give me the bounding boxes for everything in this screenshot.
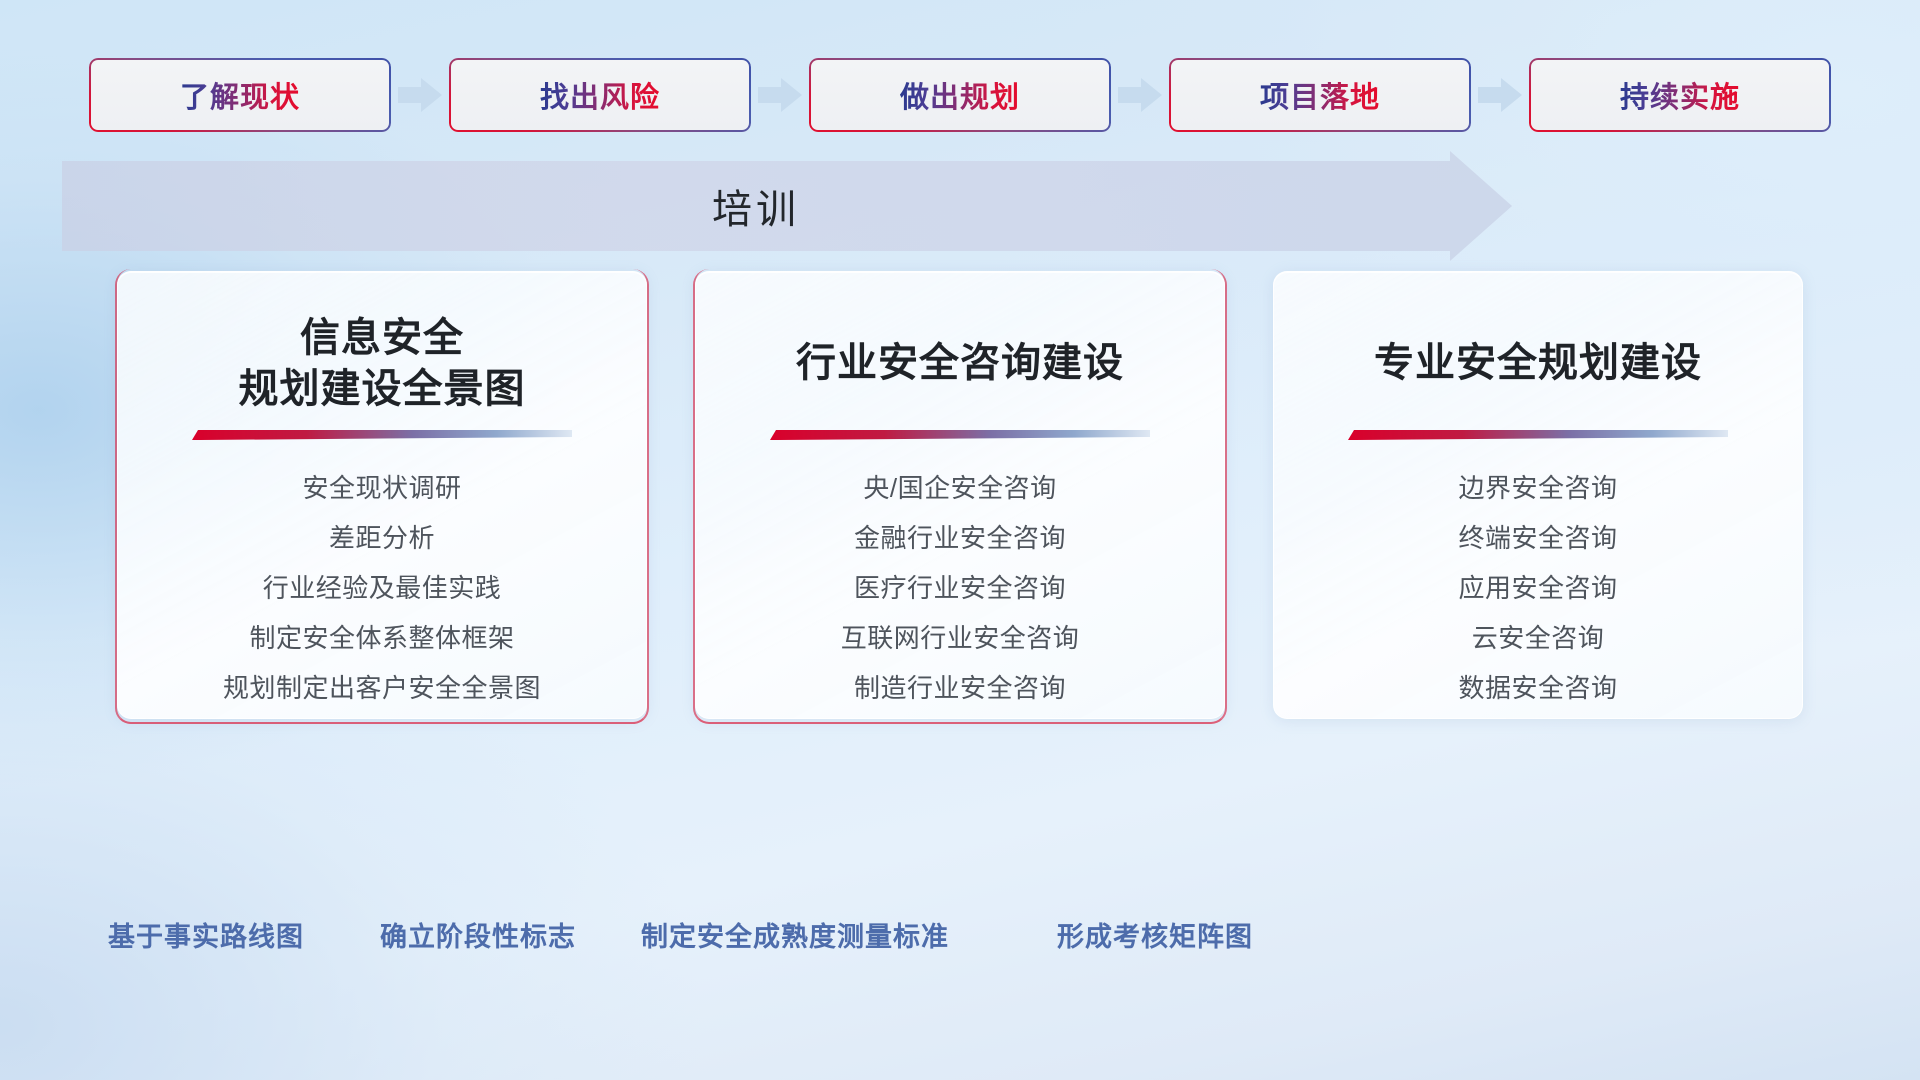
step-box-1[interactable]: 了解现状 (89, 58, 391, 132)
list-item: 云安全咨询 (1472, 617, 1605, 659)
footer-label: 形成考核矩阵图 (1057, 915, 1253, 954)
list-item: 互联网行业安全咨询 (841, 617, 1080, 659)
list-item: 金融行业安全咨询 (854, 517, 1066, 559)
list-item: 差距分析 (329, 517, 435, 559)
list-item: 行业经验及最佳实践 (263, 567, 502, 609)
step-label: 找出风险 (540, 74, 660, 116)
list-item: 边界安全咨询 (1458, 467, 1617, 509)
step-box-4[interactable]: 项目落地 (1169, 58, 1471, 132)
list-item: 医疗行业安全咨询 (854, 567, 1066, 609)
step-label: 持续实施 (1620, 74, 1740, 116)
step-arrow-icon-4 (1471, 73, 1529, 117)
step-label: 了解现状 (180, 74, 300, 116)
card-accent-bar (770, 428, 1150, 441)
card-item-list: 安全现状调研 差距分析 行业经验及最佳实践 制定安全体系整体框架 规划制定出客户… (223, 467, 541, 710)
card-item-list: 央/国企安全咨询 金融行业安全咨询 医疗行业安全咨询 互联网行业安全咨询 制造行… (841, 467, 1080, 710)
list-item: 制造行业安全咨询 (854, 667, 1066, 709)
footer-label: 制定安全成熟度测量标准 (641, 915, 949, 954)
card-information-security-blueprint[interactable]: 信息安全 规划建设全景图 安全现状调研 差距分析 行业经 (117, 271, 647, 719)
list-item: 应用安全咨询 (1458, 567, 1617, 609)
card-accent-bar (192, 428, 572, 441)
training-banner: 培训 (62, 161, 1512, 251)
process-step-row: 了解现状 找出风险 做出规划 项目落地 持续实施 (0, 58, 1920, 132)
step-box-2[interactable]: 找出风险 (449, 58, 751, 132)
footer-label: 确立阶段性标志 (380, 915, 576, 954)
list-item: 终端安全咨询 (1458, 517, 1617, 559)
step-label: 项目落地 (1260, 74, 1380, 116)
footer-label: 基于事实路线图 (108, 915, 304, 954)
card-title: 信息安全 规划建设全景图 (239, 312, 526, 416)
step-arrow-icon-3 (1111, 73, 1169, 117)
card-row: 信息安全 规划建设全景图 安全现状调研 差距分析 行业经 (0, 271, 1920, 719)
step-arrow-icon-2 (751, 73, 809, 117)
step-box-3[interactable]: 做出规划 (809, 58, 1111, 132)
card-title-line: 专业安全规划建设 (1374, 338, 1702, 389)
step-box-5[interactable]: 持续实施 (1529, 58, 1831, 132)
card-industry-security-consulting[interactable]: 行业安全咨询建设 央/国企安全咨询 金融行业安全咨询 医疗行业安全咨 (695, 271, 1225, 719)
card-title-line: 行业安全咨询建设 (796, 338, 1124, 389)
list-item: 规划制定出客户安全全景图 (223, 667, 541, 709)
card-item-list: 边界安全咨询 终端安全咨询 应用安全咨询 云安全咨询 数据安全咨询 (1458, 467, 1617, 710)
card-title: 行业安全咨询建设 (796, 312, 1124, 416)
banner-arrow-tip-icon (1450, 151, 1512, 261)
card-professional-security-planning[interactable]: 专业安全规划建设 边界安全咨询 终端安全咨询 应用安全咨询 (1273, 271, 1803, 719)
list-item: 制定安全体系整体框架 (249, 617, 514, 659)
card-accent-bar (1348, 428, 1728, 441)
card-title-line: 规划建设全景图 (239, 364, 526, 415)
banner-title: 培训 (62, 161, 1450, 251)
step-arrow-icon-1 (391, 73, 449, 117)
list-item: 安全现状调研 (302, 467, 461, 509)
list-item: 数据安全咨询 (1458, 667, 1617, 709)
step-label: 做出规划 (900, 74, 1020, 116)
list-item: 央/国企安全咨询 (863, 467, 1056, 509)
card-title-line: 信息安全 (239, 313, 526, 364)
card-title: 专业安全规划建设 (1374, 312, 1702, 416)
footer-label-row: 基于事实路线图 确立阶段性标志 制定安全成熟度测量标准 形成考核矩阵图 (0, 915, 1920, 961)
